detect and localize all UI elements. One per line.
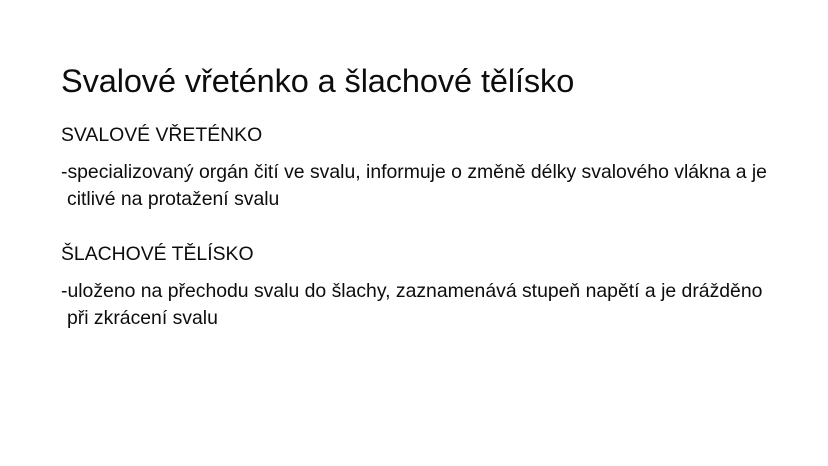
section-body-muscle-spindle: -specializovaný orgán čití ve svalu, inf… bbox=[61, 159, 767, 214]
presentation-slide: Svalové vřeténko a šlachové tělísko SVAL… bbox=[0, 0, 828, 466]
section-body-tendon-organ: -uloženo na přechodu svalu do šlachy, za… bbox=[61, 278, 767, 333]
section-heading-muscle-spindle: SVALOVÉ VŘETÉNKO bbox=[61, 122, 767, 150]
slide-title: Svalové vřeténko a šlachové tělísko bbox=[61, 61, 771, 101]
slide-body-content: SVALOVÉ VŘETÉNKO -specializovaný orgán č… bbox=[61, 122, 767, 333]
paragraph-spacer bbox=[61, 214, 767, 242]
section-heading-tendon-organ: ŠLACHOVÉ TĚLÍSKO bbox=[61, 241, 767, 269]
